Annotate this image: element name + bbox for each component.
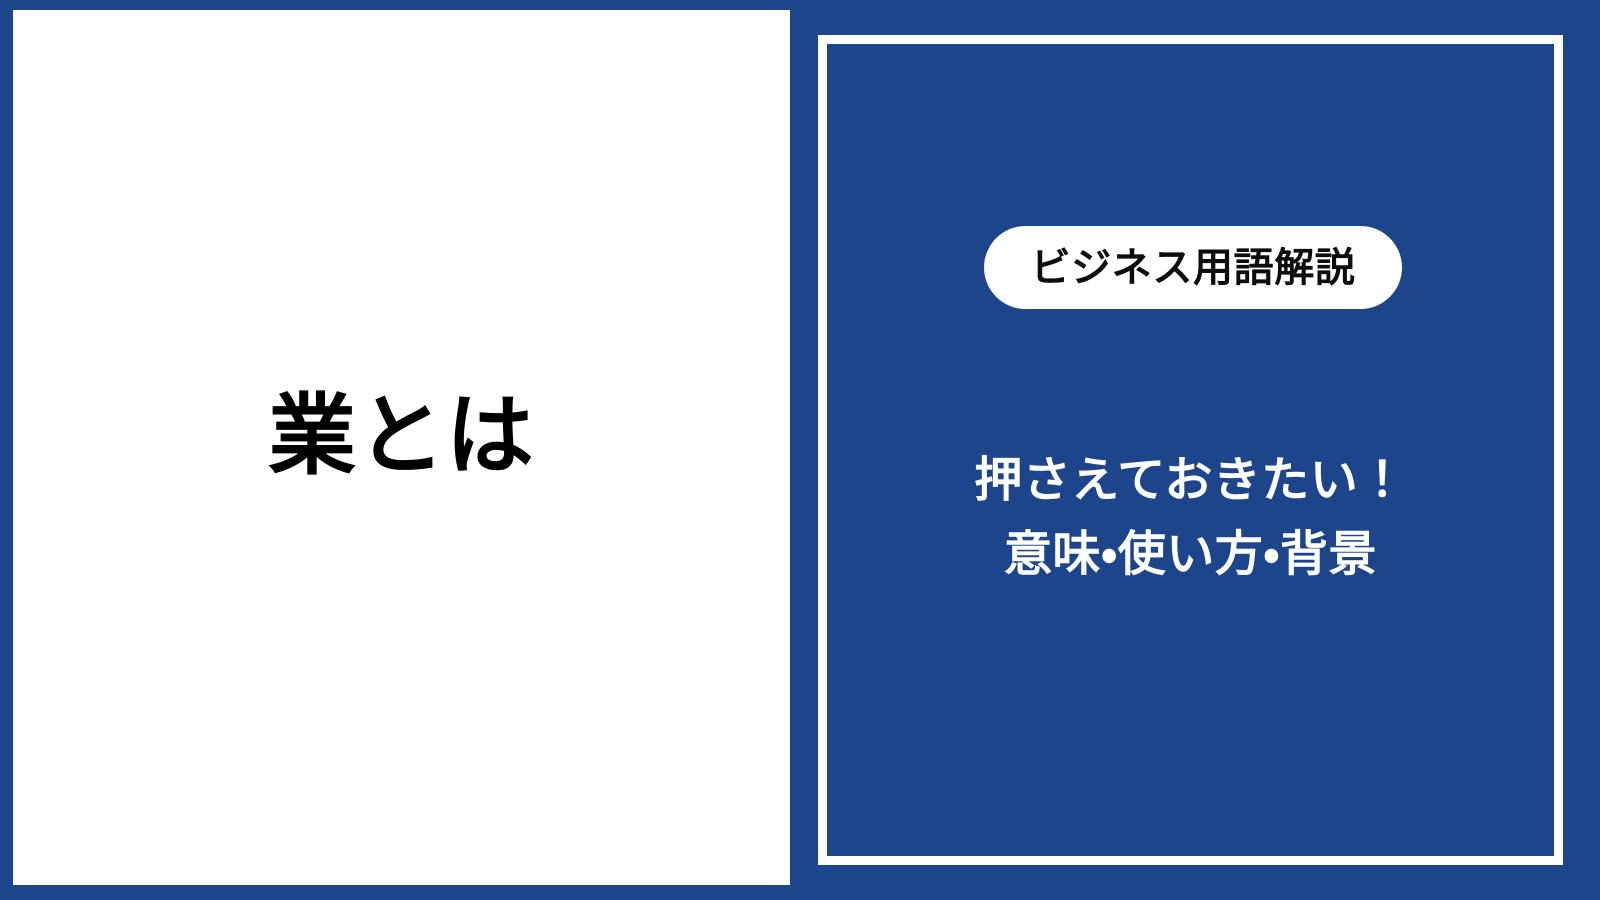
headline-line-1: 押さえておきたい！	[827, 444, 1554, 518]
page-title: 業とは	[268, 385, 535, 486]
category-badge: ビジネス用語解説	[984, 226, 1402, 309]
headline-block: 押さえておきたい！ 意味・使い方・背景	[827, 444, 1554, 593]
category-badge-label: ビジネス用語解説	[1031, 248, 1356, 288]
left-title-panel: 業とは	[13, 10, 790, 885]
slide-canvas: 業とは ビジネス用語解説 押さえておきたい！ 意味・使い方・背景	[0, 0, 1600, 900]
headline-line-2: 意味・使い方・背景	[827, 518, 1554, 592]
right-accent-panel: ビジネス用語解説 押さえておきたい！ 意味・使い方・背景	[818, 35, 1563, 865]
